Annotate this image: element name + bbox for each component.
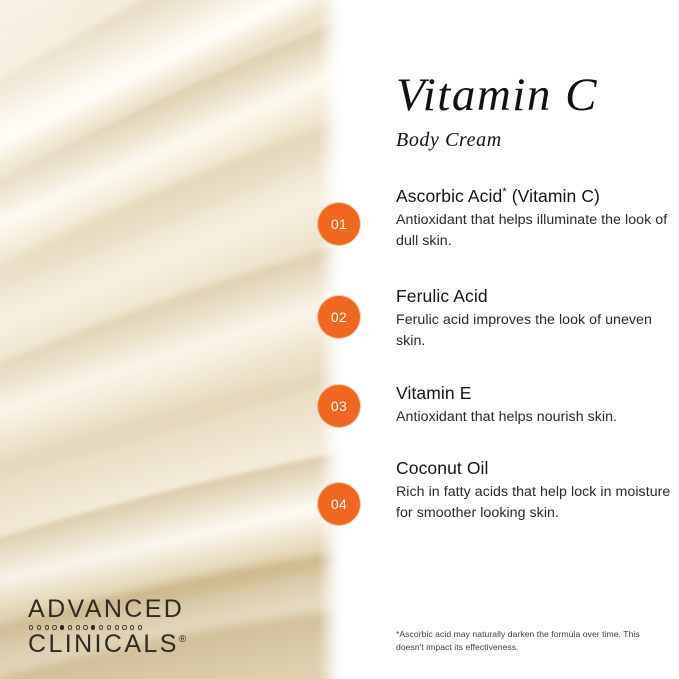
feature-title-2: Ferulic Acid	[396, 286, 674, 307]
feature-title-3: Vitamin E	[396, 383, 674, 404]
registered-trademark-icon: ®	[179, 635, 186, 645]
feature-title-1-text: Ascorbic Acid	[396, 186, 502, 206]
step-badge-2: 02	[318, 296, 360, 338]
brand-logo-dot-13	[122, 625, 126, 629]
feature-title-1-suffix: (Vitamin C)	[507, 186, 600, 206]
feature-title-4: Coconut Oil	[396, 458, 674, 479]
brand-logo-dot-5	[60, 625, 64, 629]
brand-logo-dot-8	[83, 625, 87, 629]
feature-description-4: Rich in fatty acids that help lock in mo…	[396, 482, 674, 523]
title-block: Vitamin C Body Cream	[396, 72, 598, 150]
feature-description-2: Ferulic acid improves the look of uneven…	[396, 310, 674, 351]
brand-logo-line-2: CLINICALS ®	[28, 632, 186, 658]
brand-logo-dot-3	[45, 625, 49, 629]
brand-logo-dot-10	[99, 625, 103, 629]
brand-logo-line-1: ADVANCED	[28, 597, 186, 623]
brand-logo-dot-2	[37, 625, 41, 629]
feature-title-3-text: Vitamin E	[396, 383, 471, 403]
step-badge-1: 01	[318, 203, 360, 245]
brand-logo-dot-6	[68, 625, 72, 629]
brand-logo-dot-11	[107, 625, 111, 629]
brand-logo-dot-12	[115, 625, 119, 629]
page-title: Vitamin C	[396, 72, 598, 119]
feature-item-3: Vitamin E Antioxidant that helps nourish…	[396, 383, 674, 428]
brand-logo-dot-7	[76, 625, 80, 629]
brand-logo-dot-15	[138, 625, 142, 629]
footnote-text: *Ascorbic acid may naturally darken the …	[396, 628, 646, 654]
cream-texture-photo: ADVANCED CLINICALS ®	[0, 0, 344, 679]
brand-logo-dot-1	[29, 625, 33, 629]
product-infographic: ADVANCED CLINICALS ® Vitamin C Body Crea…	[0, 0, 679, 679]
feature-title-1: Ascorbic Acid* (Vitamin C)	[396, 186, 674, 207]
feature-title-2-text: Ferulic Acid	[396, 286, 488, 306]
step-badge-4: 04	[318, 483, 360, 525]
brand-logo-dot-4	[52, 625, 56, 629]
content-panel: Vitamin C Body Cream Ascorbic Acid* (Vit…	[344, 0, 679, 679]
feature-description-3: Antioxidant that helps nourish skin.	[396, 407, 674, 428]
cream-base-layer	[0, 0, 344, 679]
feature-item-2: Ferulic Acid Ferulic acid improves the l…	[396, 286, 674, 352]
step-badge-3: 03	[318, 385, 360, 427]
feature-item-4: Coconut Oil Rich in fatty acids that hel…	[396, 458, 674, 524]
brand-logo-line-2-text: CLINICALS	[28, 632, 179, 658]
feature-item-1: Ascorbic Acid* (Vitamin C) Antioxidant t…	[396, 186, 674, 252]
brand-logo-dots	[29, 625, 186, 629]
brand-logo-dot-14	[130, 625, 134, 629]
brand-logo: ADVANCED CLINICALS ®	[28, 597, 186, 657]
brand-logo-dot-9	[91, 625, 95, 629]
feature-description-1: Antioxidant that helps illuminate the lo…	[396, 210, 674, 251]
page-subtitle: Body Cream	[396, 130, 598, 150]
feature-title-4-text: Coconut Oil	[396, 458, 489, 478]
